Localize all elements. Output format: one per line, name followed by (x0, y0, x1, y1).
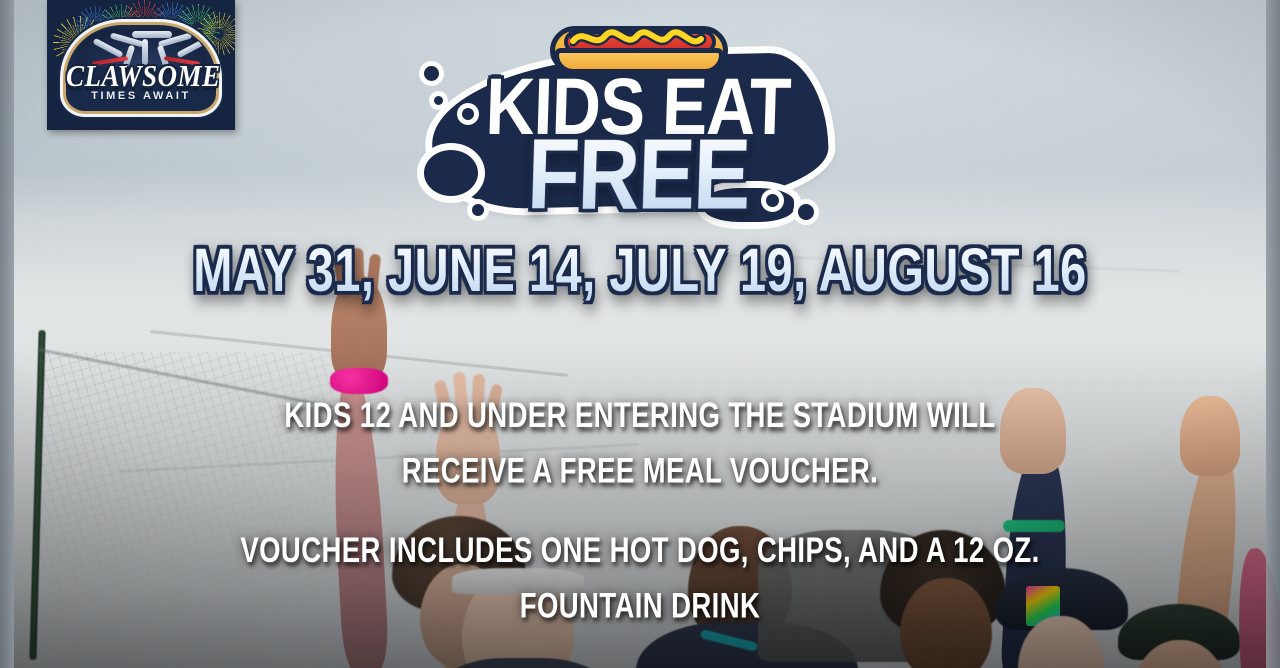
free-text: FREE (416, 118, 859, 233)
photo-left-rail (0, 0, 14, 668)
claw-shape (132, 31, 172, 38)
crest-shield: CLAWSOME TIMES AWAIT (63, 22, 219, 114)
clawsome-logo: CLAWSOME TIMES AWAIT (47, 0, 235, 130)
offer-description-paragraph: KIDS 12 AND UNDER ENTERING THE STADIUM W… (32, 389, 1248, 499)
event-dates: MAY 31, JUNE 14, JULY 19, AUGUST 16 (26, 236, 1255, 305)
hot-dog-mustard (570, 28, 712, 50)
kids-eat-free-lockup: KIDS EAT FREE (418, 8, 858, 228)
clawsome-logo-box: CLAWSOME TIMES AWAIT (47, 0, 235, 130)
clawsome-wordmark: CLAWSOME (66, 59, 216, 94)
kids-eat-free-promo-graphic: CLAWSOME TIMES AWAIT KIDS EA (0, 0, 1280, 668)
photo-right-rail (1266, 0, 1280, 668)
clawsome-tagline: TIMES AWAIT (66, 90, 216, 102)
voucher-contents-paragraph: VOUCHER INCLUDES ONE HOT DOG, CHIPS, AND… (32, 524, 1248, 634)
